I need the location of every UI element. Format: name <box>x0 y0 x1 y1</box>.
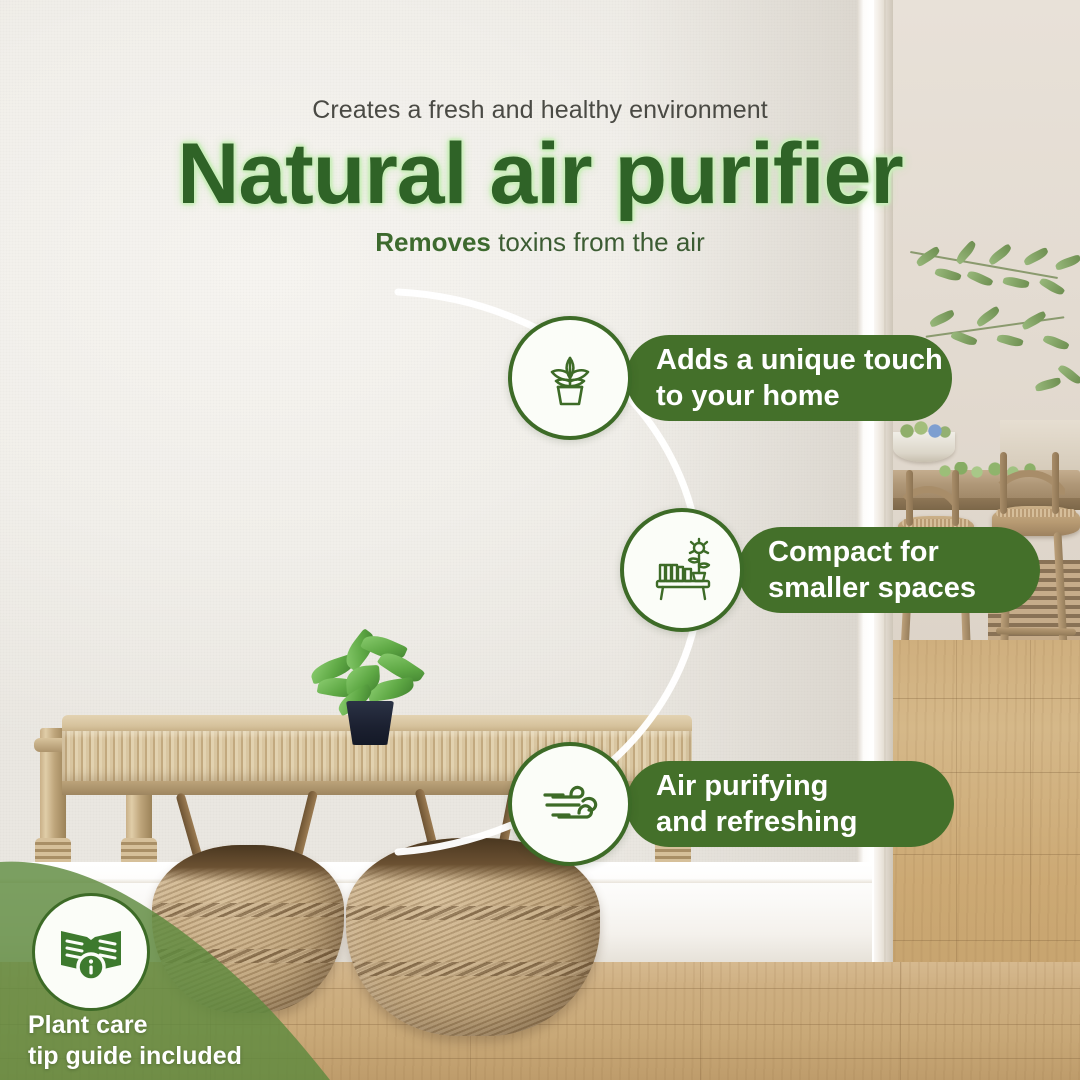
subtitle-line: Removes toxins from the air <box>0 227 1080 258</box>
feature-pill-3: Air purifying and refreshing <box>626 761 954 847</box>
feature-unique-touch[interactable]: Adds a unique touch to your home <box>508 316 952 440</box>
feature-compact[interactable]: Compact for smaller spaces <box>620 508 1040 632</box>
feature-icon-circle-2 <box>620 508 744 632</box>
feature-icon-circle-3 <box>508 742 632 866</box>
feature-air-purifying[interactable]: Air purifying and refreshing <box>508 742 952 866</box>
eyebrow-text: Creates a fresh and healthy environment <box>0 96 1080 125</box>
feature-label-1: Adds a unique touch to your home <box>626 342 943 414</box>
feature-pill-1: Adds a unique touch to your home <box>626 335 952 421</box>
open-book-info-icon <box>54 913 128 992</box>
subtitle-rest: toxins from the air <box>491 227 705 257</box>
plant-care-icon-circle <box>32 893 150 1011</box>
plant-pot <box>346 701 394 745</box>
plant-care-label: Plant care tip guide included <box>28 1010 348 1072</box>
feature-label-3: Air purifying and refreshing <box>626 768 857 840</box>
page-title: Natural air purifier <box>0 127 1080 221</box>
feature-label-2: Compact for smaller spaces <box>738 534 976 606</box>
wind-airflow-icon <box>533 767 607 841</box>
plant-foliage <box>306 636 426 708</box>
potted-plant-icon <box>534 342 606 414</box>
feature-pill-2: Compact for smaller spaces <box>738 527 1040 613</box>
shelf-with-plant-icon <box>645 533 719 607</box>
feature-icon-circle-1 <box>508 316 632 440</box>
subtitle-bold: Removes <box>375 227 491 257</box>
infographic-canvas: Creates a fresh and healthy environment … <box>0 0 1080 1080</box>
